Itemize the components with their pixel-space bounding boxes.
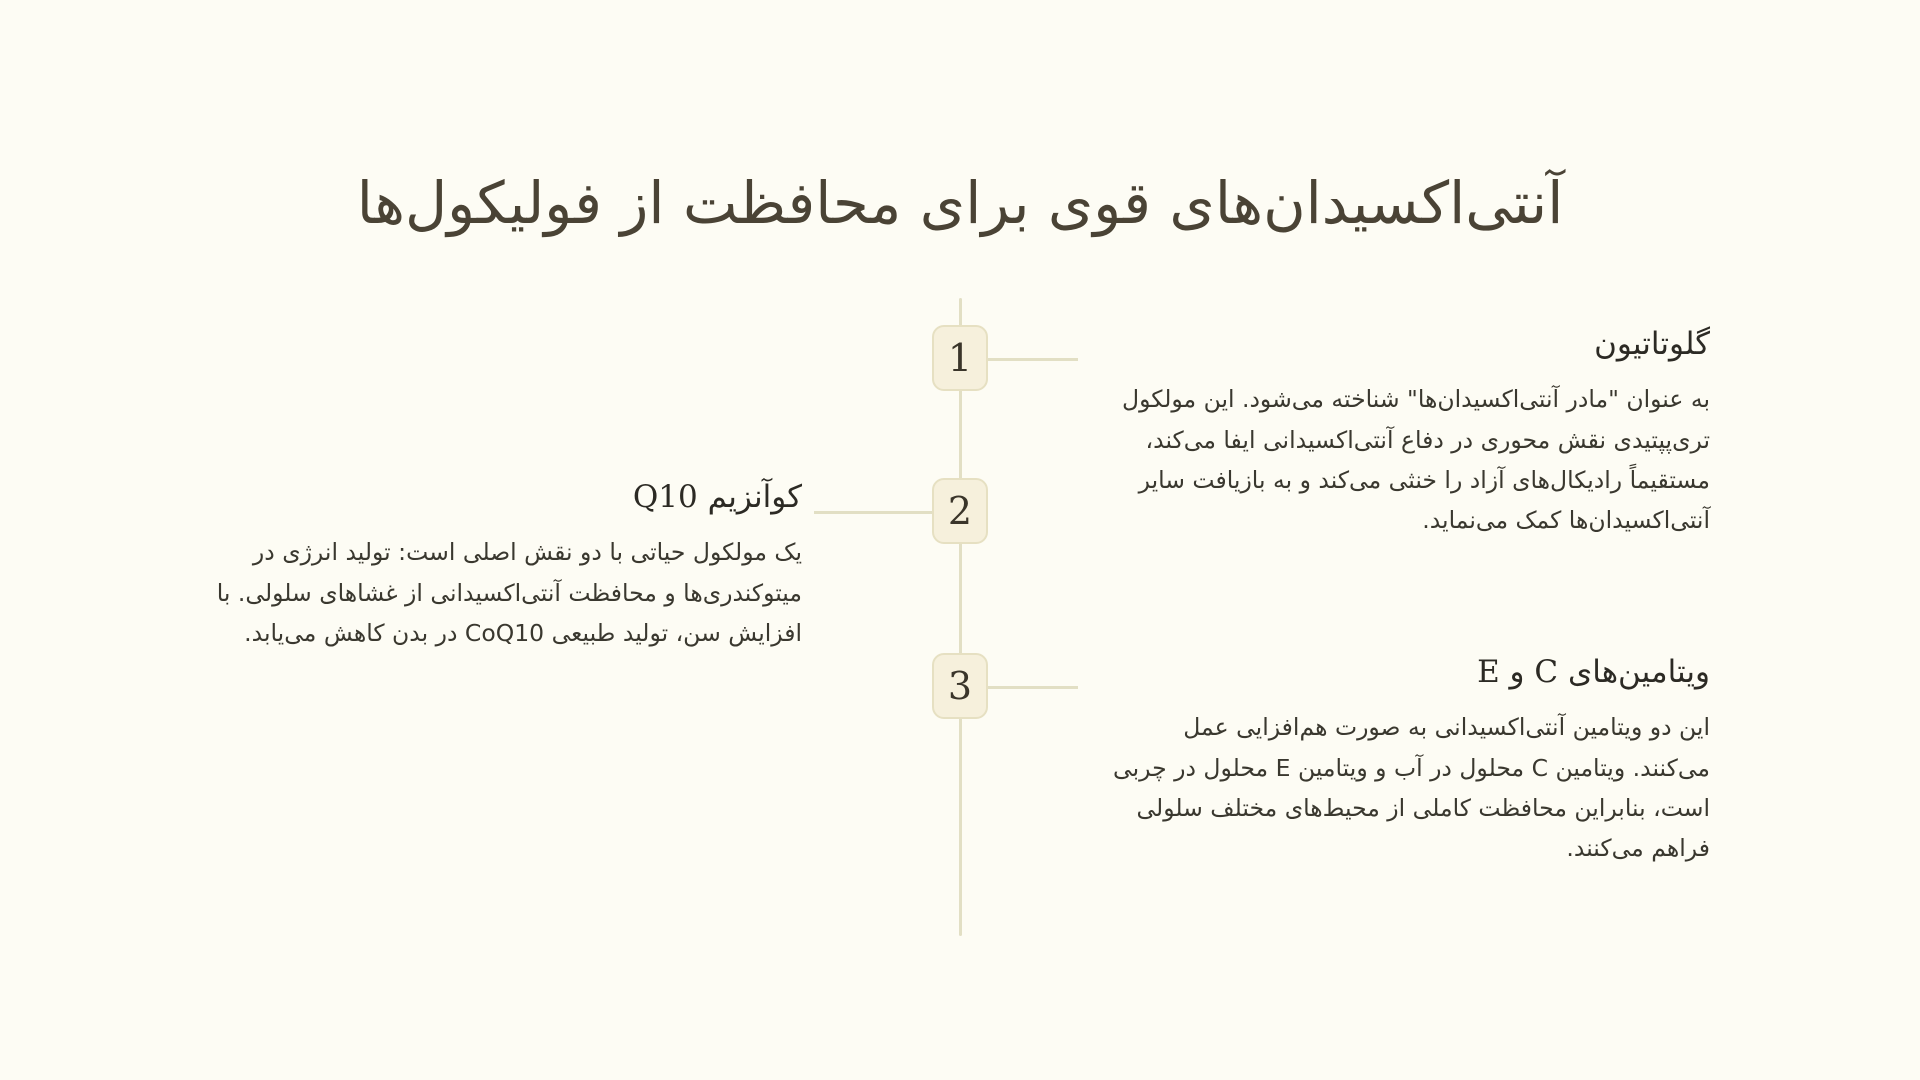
slide-canvas: آنتی‌اکسیدان‌های قوی برای محافظت از فولی… xyxy=(0,0,1920,1080)
timeline-spine xyxy=(959,298,962,936)
timeline-entry-1: گلوتاتیون به عنوان "مادر آنتی‌اکسیدان‌ها… xyxy=(1100,326,1710,541)
timeline-entry-1-title: گلوتاتیون xyxy=(1100,326,1710,363)
timeline-marker-1[interactable]: 1 xyxy=(932,325,988,391)
timeline-marker-2[interactable]: 2 xyxy=(932,478,988,544)
timeline-connector-2 xyxy=(814,511,932,514)
timeline-entry-2-title: کوآنزیم Q10 xyxy=(182,479,802,516)
timeline-connector-1 xyxy=(988,358,1078,361)
page-title: آنتی‌اکسیدان‌های قوی برای محافظت از فولی… xyxy=(0,167,1920,240)
timeline-entry-3-body: این دو ویتامین آنتی‌اکسیدانی به صورت هم‌… xyxy=(1100,707,1710,869)
timeline-connector-3 xyxy=(988,686,1078,689)
timeline-entry-2: کوآنزیم Q10 یک مولکول حیاتی با دو نقش اص… xyxy=(182,479,802,653)
timeline-entry-1-body: به عنوان "مادر آنتی‌اکسیدان‌ها" شناخته م… xyxy=(1100,379,1710,541)
timeline-entry-3-title: ویتامین‌های C و E xyxy=(1100,654,1710,691)
timeline-entry-3: ویتامین‌های C و E این دو ویتامین آنتی‌اک… xyxy=(1100,654,1710,869)
timeline-entry-2-body: یک مولکول حیاتی با دو نقش اصلی است: تولی… xyxy=(182,532,802,653)
timeline-marker-3[interactable]: 3 xyxy=(932,653,988,719)
